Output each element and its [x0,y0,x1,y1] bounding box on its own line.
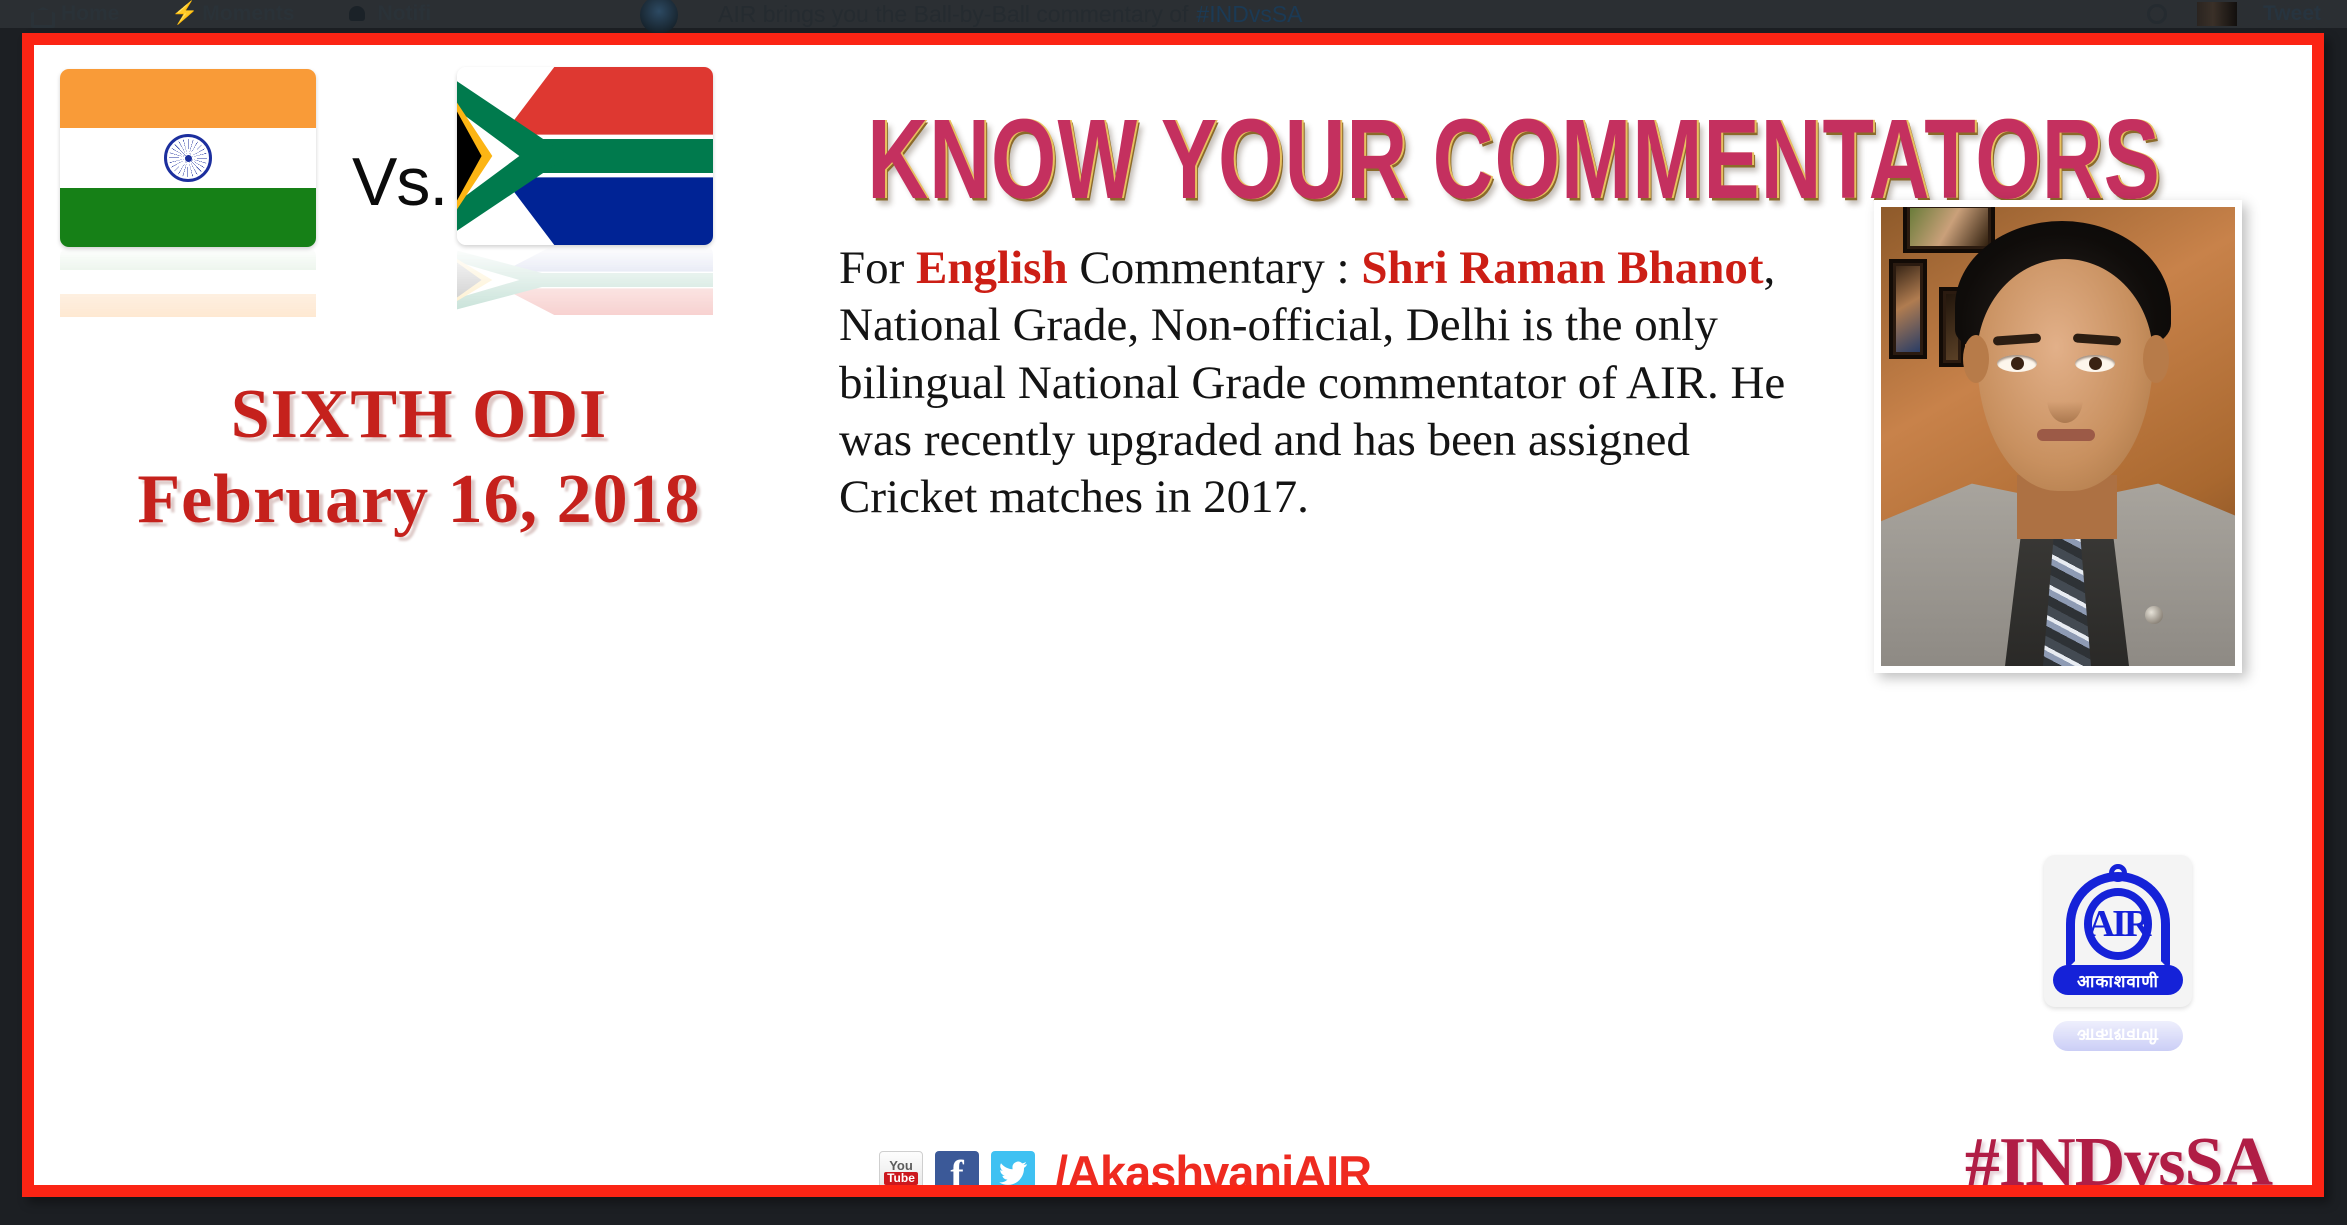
navbar-right-group: Tweet [2145,0,2347,28]
commentator-graphic-card: Vs. KNOW YOUR COMMENTATORS SIXTH ODI Feb… [22,33,2324,1197]
nav-item-home[interactable]: Home [30,2,119,26]
tweet-button[interactable]: Tweet [2263,2,2321,26]
wall-picture-frame-2 [1889,259,1927,359]
tweet-text-body: AIR brings you the Ball-by-Ball commenta… [718,1,1188,28]
nav-item-home-label: Home [61,2,119,26]
match-info: SIXTH ODI February 16, 2018 [34,375,804,539]
eye-left [1997,355,2037,372]
twitter-icon[interactable] [991,1151,1035,1186]
youtube-icon-line2: Tube [884,1172,918,1185]
air-logo-reflection-band: आकाशवाणी [2053,1021,2183,1051]
ear-right [2143,335,2169,383]
commentary-prefix: For [839,242,916,294]
commentary-language: English [916,242,1068,294]
india-saffron-stripe [60,69,316,128]
commentator-portrait [1874,200,2242,673]
social-footer: You Tube f /AkashvaniAIR [879,1145,1371,1185]
nose [2047,375,2083,423]
nav-item-moments-label: Moments [202,2,294,26]
youtube-icon[interactable]: You Tube [879,1151,923,1186]
social-handle: /AkashvaniAIR [1055,1145,1371,1185]
teams-flags-row: Vs. [34,45,794,325]
mouth [2037,429,2095,441]
south-africa-flag [457,67,713,245]
south-africa-flag-body [457,67,713,245]
air-logo-mark: AIR [2053,862,2183,972]
moments-icon [171,4,193,24]
air-logo-letters: AIR [2086,900,2150,948]
home-icon [30,4,52,24]
search-icon[interactable] [2145,3,2171,25]
india-green-stripe [60,188,316,247]
south-africa-flag-reflection [457,245,713,315]
india-flag [60,69,316,247]
nav-item-moments[interactable]: Moments [171,2,294,26]
air-logo: AIR आकाशवाणी [2044,855,2192,1007]
match-date: February 16, 2018 [34,460,804,539]
ashoka-chakra-icon [164,134,212,182]
graphic-canvas: Vs. KNOW YOUR COMMENTATORS SIXTH ODI Feb… [34,45,2312,1185]
chakra-spokes [169,139,207,177]
india-flag-body [60,69,316,247]
avatar[interactable] [640,0,678,34]
wall-picture-frame-1 [1903,207,1995,253]
commentator-name: Shri Raman Bhanot [1361,242,1763,294]
nav-item-notifications[interactable]: Notifi [347,2,432,26]
nav-item-notifications-label: Notifi [378,2,432,26]
profile-thumbnail[interactable] [2197,2,2237,26]
commentary-mid: Commentary : [1068,242,1362,294]
air-logo-reflection: आकाशवाणी [2044,1007,2192,1051]
match-hashtag: #INDvsSA [1965,1123,2272,1185]
commentator-photo [1881,207,2235,666]
ear-left [1963,335,1989,383]
eye-right [2075,355,2115,372]
youtube-icon-line1: You [889,1160,913,1171]
tweet-hashtag-link[interactable]: #INDvsSA [1196,1,1302,28]
match-title: SIXTH ODI [34,375,804,454]
notifications-bell-icon [347,4,369,24]
air-logo-band-text: आकाशवाणी [2053,965,2183,995]
versus-label: Vs. [352,143,447,221]
lapel-pin [2145,606,2163,624]
commentary-description: For English Commentary : Shri Raman Bhan… [839,240,1809,527]
tweet-text: AIR brings you the Ball-by-Ball commenta… [718,0,1303,28]
facebook-icon[interactable]: f [935,1151,979,1186]
india-flag-reflection [60,247,316,317]
